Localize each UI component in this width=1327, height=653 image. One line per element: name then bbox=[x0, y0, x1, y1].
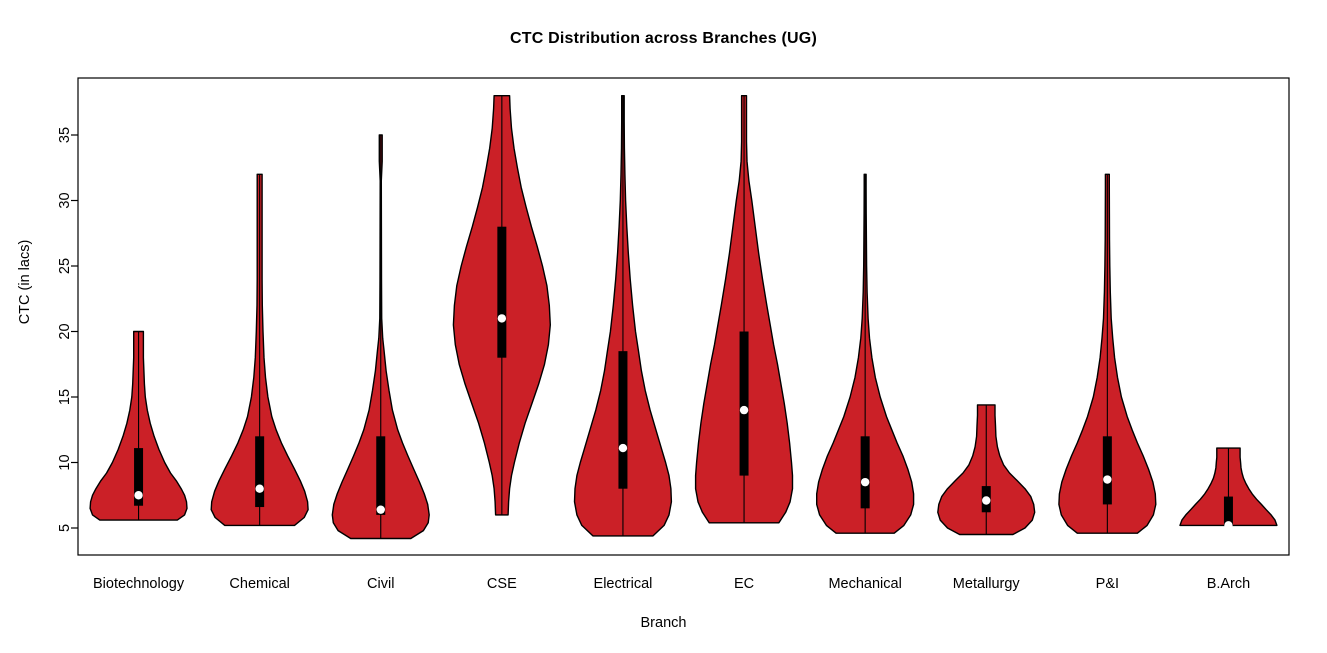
x-tick-label: CSE bbox=[487, 576, 517, 592]
iqr-box bbox=[376, 436, 385, 515]
chart-canvas: 5101520253035 BiotechnologyChemicalCivil… bbox=[0, 0, 1327, 653]
iqr-box bbox=[497, 227, 506, 358]
violin-metallurgy bbox=[938, 405, 1035, 535]
violin-mechanical bbox=[817, 174, 914, 533]
violins-group bbox=[90, 96, 1277, 539]
y-tick-label: 20 bbox=[57, 323, 73, 339]
median-dot bbox=[255, 485, 263, 493]
y-tick-label: 30 bbox=[57, 192, 73, 208]
iqr-box bbox=[740, 332, 749, 476]
y-tick-label: 10 bbox=[57, 454, 73, 470]
median-dot bbox=[619, 444, 627, 452]
violin-p-i bbox=[1059, 174, 1156, 533]
x-tick-label: Metallurgy bbox=[953, 576, 1021, 592]
iqr-box bbox=[255, 436, 264, 507]
median-dot bbox=[1224, 521, 1232, 529]
iqr-box bbox=[861, 436, 870, 508]
violin-ec bbox=[696, 96, 793, 523]
median-dot bbox=[134, 491, 142, 499]
median-dot bbox=[498, 314, 506, 322]
violin-plot-figure: CTC Distribution across Branches (UG) CT… bbox=[0, 0, 1327, 653]
iqr-box bbox=[1103, 436, 1112, 504]
x-tick-label: Electrical bbox=[594, 576, 653, 592]
x-tick-label: P&I bbox=[1096, 576, 1119, 592]
violin-chemical bbox=[211, 174, 308, 525]
y-tick-label: 35 bbox=[57, 127, 73, 143]
iqr-box bbox=[1224, 497, 1233, 526]
y-tick-label: 25 bbox=[57, 258, 73, 274]
x-tick-label: EC bbox=[734, 576, 754, 592]
median-dot bbox=[740, 406, 748, 414]
y-tick-label: 5 bbox=[57, 524, 73, 532]
x-tick-label: Biotechnology bbox=[93, 576, 185, 592]
median-dot bbox=[1103, 475, 1111, 483]
iqr-box bbox=[618, 351, 627, 489]
median-dot bbox=[861, 478, 869, 486]
x-tick-label: Chemical bbox=[229, 576, 289, 592]
violin-electrical bbox=[575, 96, 672, 536]
x-tick-label: Mechanical bbox=[828, 576, 901, 592]
x-tick-label: Civil bbox=[367, 576, 394, 592]
x-tick-label: B.Arch bbox=[1207, 576, 1251, 592]
violin-b-arch bbox=[1180, 448, 1277, 529]
median-dot bbox=[377, 505, 385, 513]
violin-biotechnology bbox=[90, 332, 187, 521]
y-tick-label: 15 bbox=[57, 389, 73, 405]
violin-civil bbox=[332, 135, 429, 539]
median-dot bbox=[982, 496, 990, 504]
axis-labels-group: BiotechnologyChemicalCivilCSEElectricalE… bbox=[93, 576, 1250, 592]
violin-cse bbox=[453, 96, 550, 515]
